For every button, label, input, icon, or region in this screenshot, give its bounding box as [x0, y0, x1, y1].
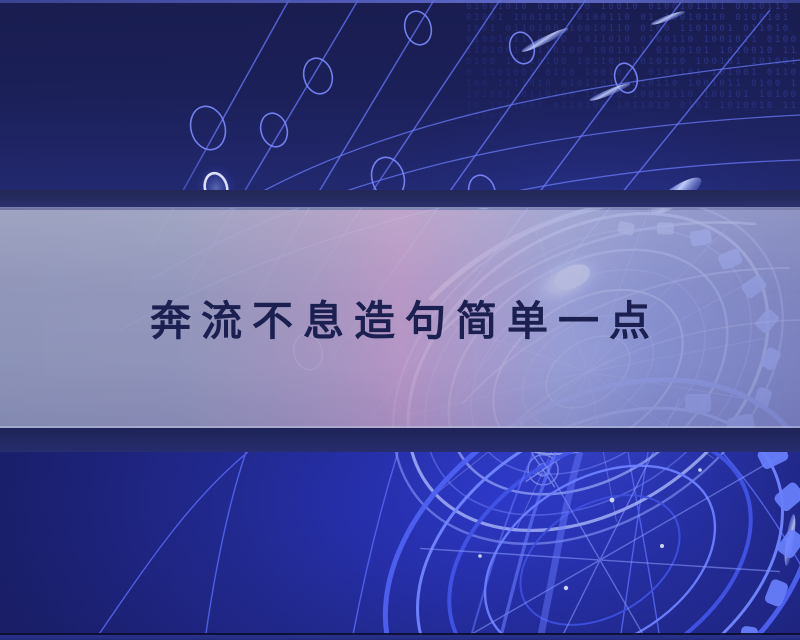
banner-image: 01001010 0100110 10010 0100101101 001011… [0, 0, 800, 640]
top-divider-line [0, 0, 800, 3]
band-bottom-edge [0, 428, 800, 452]
background-top-band [0, 0, 800, 200]
band-top-edge [0, 190, 800, 208]
title-container: 奔流不息造句简单一点 [0, 210, 800, 428]
banner-title: 奔流不息造句简单一点 [140, 301, 660, 342]
bottom-strip [0, 635, 800, 640]
